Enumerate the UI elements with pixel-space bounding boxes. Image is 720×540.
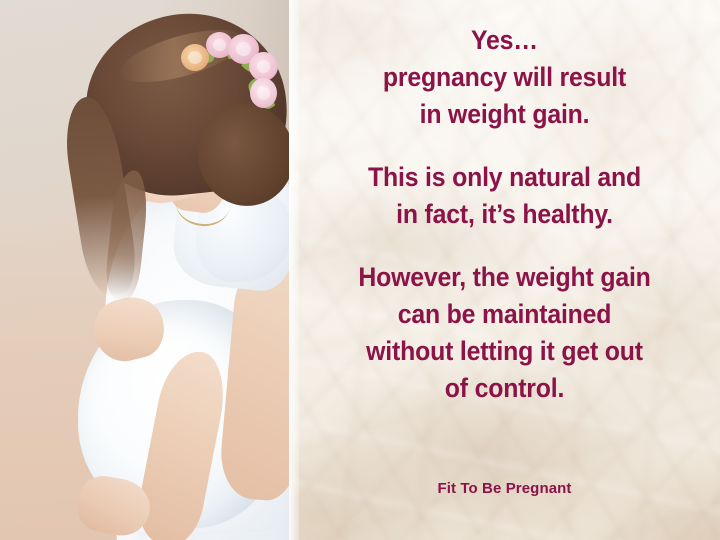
paragraph-1-line-2: pregnancy will result (306, 59, 703, 96)
paragraph-2-line-1: This is only natural and (306, 159, 703, 196)
paragraph-3-line-1: However, the weight gain (306, 259, 703, 296)
paragraph-1: Yes… pregnancy will result in weight gai… (306, 22, 703, 133)
pink-rose-icon (249, 52, 278, 81)
paragraph-1-line-3: in weight gain. (306, 96, 703, 133)
paragraph-3-line-2: can be maintained (306, 296, 703, 333)
pink-rose-icon (250, 78, 277, 108)
paragraph-3-line-4: of control. (306, 370, 703, 407)
paragraph-2-line-2: in fact, it’s healthy. (306, 196, 703, 233)
brand-credit: Fit To Be Pregnant (289, 480, 720, 497)
quote-text-layer: Yes… pregnancy will result in weight gai… (289, 0, 720, 540)
pregnancy-photo (0, 0, 289, 540)
paragraph-3-line-3: without letting it get out (306, 333, 703, 370)
peach-rose-icon (181, 44, 209, 71)
paragraph-1-line-1: Yes… (306, 22, 703, 59)
paragraph-3: However, the weight gain can be maintain… (306, 259, 703, 407)
paragraph-2: This is only natural and in fact, it’s h… (306, 159, 703, 233)
poster-image: Yes… pregnancy will result in weight gai… (0, 0, 720, 540)
